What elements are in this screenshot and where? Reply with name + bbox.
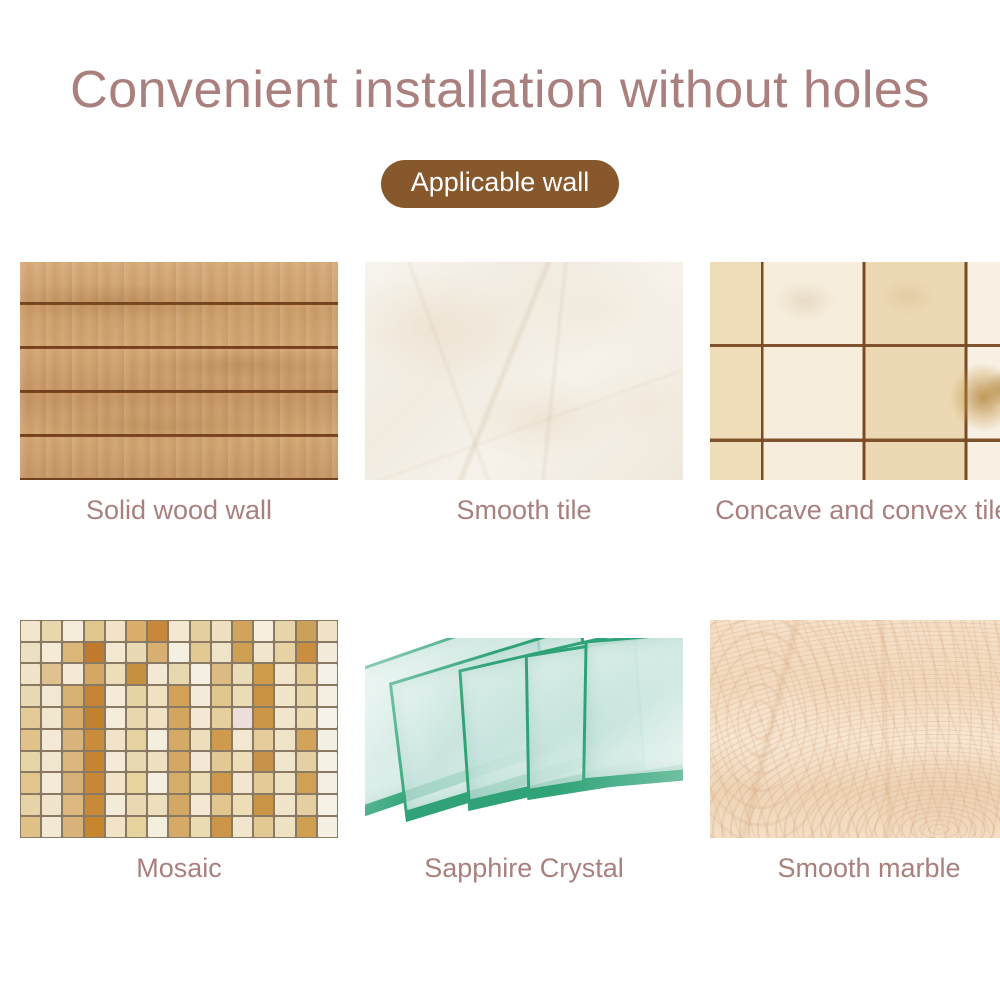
gallery-item-mosaic: Mosaic <box>20 620 338 886</box>
mosaic-tile <box>233 730 252 750</box>
mosaic-tile <box>212 708 231 728</box>
mosaic-tile <box>254 643 273 663</box>
infographic-page: Convenient installation without holes Ap… <box>0 0 1000 1000</box>
mosaic-tile <box>85 643 104 663</box>
mosaic-tile <box>148 708 167 728</box>
mosaic-tile <box>191 730 210 750</box>
mosaic-tile <box>169 708 188 728</box>
smooth-marble-image <box>710 620 1000 838</box>
mosaic-tile <box>148 752 167 772</box>
mosaic-tile <box>191 817 210 837</box>
mosaic-tile <box>169 795 188 815</box>
mosaic-tile <box>318 817 337 837</box>
mosaic-tile <box>233 795 252 815</box>
mosaic-tile <box>85 621 104 641</box>
mosaic-tile <box>63 686 82 706</box>
mosaic-tile <box>148 643 167 663</box>
mosaic-tile <box>63 643 82 663</box>
mosaic-tile <box>127 752 146 772</box>
mosaic-tile <box>254 795 273 815</box>
mosaic-tile <box>42 795 61 815</box>
mosaic-tile <box>212 621 231 641</box>
mosaic-tile <box>21 817 40 837</box>
mosaic-tile <box>127 817 146 837</box>
mosaic-tile <box>254 708 273 728</box>
mosaic-tile <box>233 817 252 837</box>
mosaic-tile <box>169 664 188 684</box>
mosaic-tile <box>169 686 188 706</box>
mosaic-tile <box>212 730 231 750</box>
mosaic-tile <box>254 817 273 837</box>
mosaic-tile <box>212 643 231 663</box>
mosaic-tile <box>106 664 125 684</box>
mosaic-tile <box>106 730 125 750</box>
gallery-item-smooth-tile: Smooth tile <box>365 262 683 528</box>
gallery-item-caption: Sapphire Crystal <box>365 852 683 886</box>
mosaic-tile <box>85 795 104 815</box>
mosaic-tile <box>85 686 104 706</box>
material-gallery: Solid wood wall Smooth tile Concave and … <box>20 262 980 886</box>
gallery-item-sapphire-crystal: Sapphire Crystal <box>365 620 683 886</box>
mosaic-tile <box>191 686 210 706</box>
mosaic-tile <box>318 752 337 772</box>
mosaic-tile <box>254 773 273 793</box>
gallery-item-caption: Smooth marble <box>710 852 1000 886</box>
gallery-item-caption: Concave and convex tiles <box>710 494 1000 528</box>
gallery-row: Mosaic Sapphire Crystal <box>20 620 980 886</box>
mosaic-tile <box>63 621 82 641</box>
mosaic-tile <box>169 817 188 837</box>
mosaic-tile <box>233 752 252 772</box>
mosaic-tile <box>148 795 167 815</box>
mosaic-tile <box>127 795 146 815</box>
mosaic-image <box>20 620 338 838</box>
mosaic-tile <box>169 773 188 793</box>
mosaic-tile <box>85 708 104 728</box>
mosaic-tile <box>127 643 146 663</box>
mosaic-tile <box>318 708 337 728</box>
mosaic-tile <box>85 817 104 837</box>
mosaic-tile <box>318 795 337 815</box>
smooth-tile-image <box>365 262 683 480</box>
mosaic-tile <box>297 686 316 706</box>
mosaic-tile <box>127 773 146 793</box>
glass-bottom-mask <box>365 830 683 838</box>
mosaic-tile <box>254 621 273 641</box>
mosaic-tile <box>127 730 146 750</box>
mosaic-tile <box>318 643 337 663</box>
mosaic-tile <box>318 621 337 641</box>
mosaic-tile <box>318 730 337 750</box>
badge-row: Applicable wall <box>0 160 1000 208</box>
mosaic-tile <box>297 795 316 815</box>
mosaic-tile <box>191 664 210 684</box>
glass-pane <box>582 626 683 789</box>
mosaic-tile <box>191 795 210 815</box>
mosaic-tile <box>106 621 125 641</box>
mosaic-tile <box>127 708 146 728</box>
gallery-item-caption: Mosaic <box>20 852 338 886</box>
applicable-wall-badge: Applicable wall <box>381 160 620 208</box>
mosaic-tile <box>21 795 40 815</box>
gallery-item-caption: Solid wood wall <box>20 494 338 528</box>
mosaic-tile <box>21 708 40 728</box>
mosaic-tile <box>63 773 82 793</box>
mosaic-tile <box>21 686 40 706</box>
mosaic-tile <box>212 752 231 772</box>
mosaic-tile <box>63 817 82 837</box>
mosaic-tile <box>42 686 61 706</box>
mosaic-tile <box>42 708 61 728</box>
mosaic-tile <box>106 686 125 706</box>
mosaic-tile-grid <box>20 620 338 838</box>
glass-top-mask <box>365 620 683 638</box>
gallery-item-smooth-marble: Smooth marble <box>710 620 1000 886</box>
mosaic-tile <box>42 773 61 793</box>
mosaic-tile <box>85 730 104 750</box>
mosaic-tile <box>21 752 40 772</box>
page-title: Convenient installation without holes <box>0 60 1000 120</box>
mosaic-tile <box>254 664 273 684</box>
mosaic-tile <box>275 773 294 793</box>
mosaic-tile <box>85 773 104 793</box>
mosaic-tile <box>106 795 125 815</box>
glass-panel-stack <box>365 620 683 838</box>
mosaic-tile <box>106 752 125 772</box>
mosaic-tile <box>254 730 273 750</box>
mosaic-tile <box>85 752 104 772</box>
mosaic-tile <box>63 730 82 750</box>
mosaic-tile <box>212 686 231 706</box>
sapphire-crystal-image <box>365 620 683 838</box>
mosaic-tile <box>233 664 252 684</box>
mosaic-tile <box>42 643 61 663</box>
mosaic-tile <box>297 664 316 684</box>
mosaic-tile <box>233 621 252 641</box>
mosaic-tile <box>85 664 104 684</box>
mosaic-tile <box>127 686 146 706</box>
mosaic-tile <box>275 752 294 772</box>
mosaic-tile <box>148 730 167 750</box>
mosaic-tile <box>275 730 294 750</box>
mosaic-tile <box>233 773 252 793</box>
gallery-row: Solid wood wall Smooth tile Concave and … <box>20 262 980 528</box>
mosaic-tile <box>212 795 231 815</box>
mosaic-tile <box>233 708 252 728</box>
mosaic-tile <box>21 773 40 793</box>
mosaic-tile <box>297 708 316 728</box>
mosaic-tile <box>169 752 188 772</box>
mosaic-tile <box>318 773 337 793</box>
mosaic-tile <box>191 708 210 728</box>
mosaic-tile <box>21 643 40 663</box>
mosaic-tile <box>42 752 61 772</box>
gallery-item-concave-convex-tiles: Concave and convex tiles <box>710 262 1000 528</box>
mosaic-tile <box>42 621 61 641</box>
mosaic-tile <box>191 773 210 793</box>
mosaic-tile <box>212 664 231 684</box>
mosaic-tile <box>148 817 167 837</box>
mosaic-tile <box>106 708 125 728</box>
concave-convex-tiles-image <box>710 262 1000 480</box>
mosaic-tile <box>297 752 316 772</box>
mosaic-tile <box>275 708 294 728</box>
mosaic-tile <box>254 752 273 772</box>
mosaic-tile <box>297 773 316 793</box>
mosaic-tile <box>275 817 294 837</box>
mosaic-tile <box>127 621 146 641</box>
mosaic-tile <box>127 664 146 684</box>
mosaic-tile <box>21 730 40 750</box>
mosaic-tile <box>148 686 167 706</box>
mosaic-tile <box>233 686 252 706</box>
mosaic-tile <box>275 621 294 641</box>
mosaic-tile <box>21 621 40 641</box>
mosaic-tile <box>275 795 294 815</box>
mosaic-tile <box>148 773 167 793</box>
mosaic-tile <box>106 773 125 793</box>
solid-wood-wall-image <box>20 262 338 480</box>
mosaic-tile <box>169 643 188 663</box>
mosaic-tile <box>297 643 316 663</box>
mosaic-tile <box>63 708 82 728</box>
gallery-item-caption: Smooth tile <box>365 494 683 528</box>
mosaic-tile <box>42 817 61 837</box>
mosaic-tile <box>106 817 125 837</box>
mosaic-tile <box>148 664 167 684</box>
mosaic-tile <box>275 686 294 706</box>
mosaic-tile <box>318 664 337 684</box>
mosaic-tile <box>191 643 210 663</box>
mosaic-tile <box>212 773 231 793</box>
mosaic-tile <box>106 643 125 663</box>
mosaic-tile <box>42 730 61 750</box>
mosaic-tile <box>63 664 82 684</box>
mosaic-tile <box>21 664 40 684</box>
gallery-item-solid-wood-wall: Solid wood wall <box>20 262 338 528</box>
mosaic-tile <box>169 730 188 750</box>
mosaic-tile <box>169 621 188 641</box>
mosaic-tile <box>191 621 210 641</box>
mosaic-tile <box>275 643 294 663</box>
mosaic-tile <box>191 752 210 772</box>
mosaic-tile <box>297 817 316 837</box>
mosaic-tile <box>212 817 231 837</box>
mosaic-tile <box>42 664 61 684</box>
mosaic-tile <box>148 621 167 641</box>
mosaic-tile <box>233 643 252 663</box>
mosaic-tile <box>297 730 316 750</box>
mosaic-tile <box>297 621 316 641</box>
mosaic-tile <box>63 795 82 815</box>
mosaic-tile <box>254 686 273 706</box>
mosaic-tile <box>275 664 294 684</box>
mosaic-tile <box>63 752 82 772</box>
mosaic-tile <box>318 686 337 706</box>
